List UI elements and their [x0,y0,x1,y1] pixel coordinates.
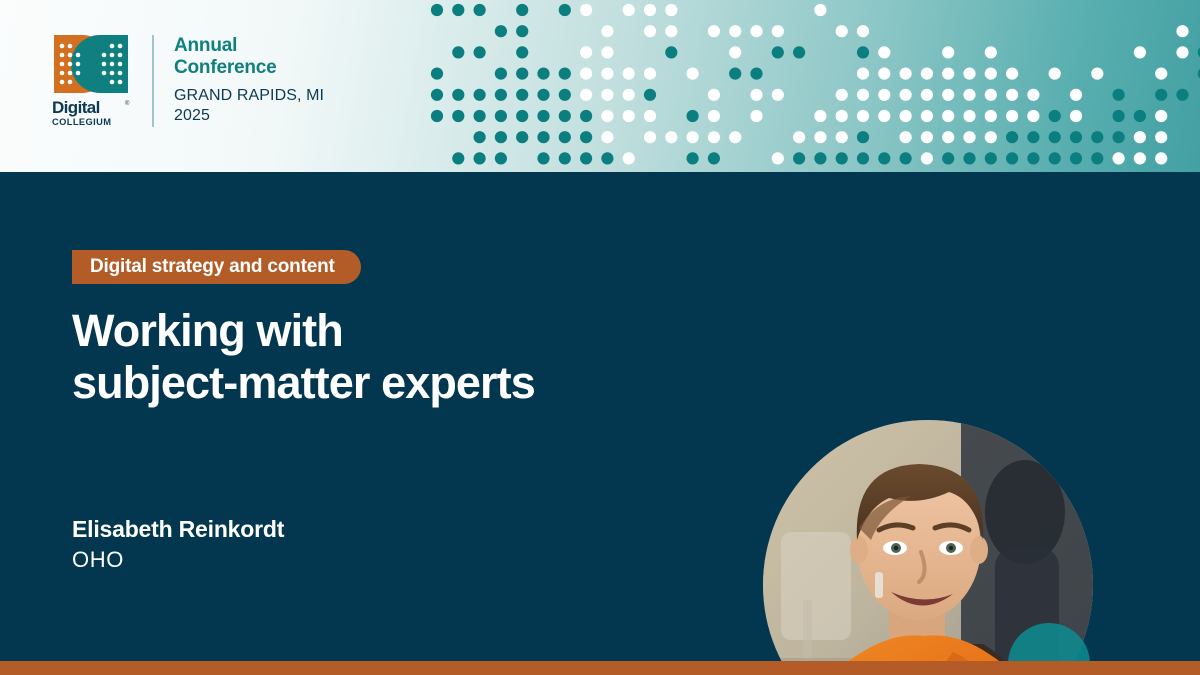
session-title-line2: subject-matter experts [72,357,712,409]
slide-body: Digital strategy and content Working wit… [0,172,1200,661]
logo-trademark-icon: ® [125,100,130,107]
event-name-line1: Annual [174,35,324,57]
slide-header: Digital ® COLLEGIUM Annual Conference GR… [0,0,1200,172]
logo-brand-name: Digital [52,98,100,117]
conference-slide: Digital ® COLLEGIUM Annual Conference GR… [0,0,1200,675]
topic-badge: Digital strategy and content [72,250,361,284]
session-title: Working with subject-matter experts [72,305,712,409]
session-title-line1: Working with [72,305,712,357]
digital-collegium-mark-icon [52,33,130,95]
speaker-portrait [763,420,1093,675]
event-name-line2: Conference [174,57,324,79]
speaker-organization: OHO [72,547,284,573]
event-identity: Annual Conference GRAND RAPIDS, MI 2025 [174,33,324,125]
speaker-name: Elisabeth Reinkordt [72,516,284,543]
speaker-block: Elisabeth Reinkordt OHO [72,516,284,573]
event-location: GRAND RAPIDS, MI [174,86,324,106]
logo-divider [152,35,154,127]
logo-lockup: Digital ® COLLEGIUM Annual Conference GR… [52,33,324,128]
footer-accent-bar [0,661,1200,675]
logo-wordmark: Digital ® COLLEGIUM [52,98,132,128]
logo-mark-wrap: Digital ® COLLEGIUM [52,33,132,128]
logo-brand-sub: COLLEGIUM [52,117,111,127]
event-year: 2025 [174,106,324,126]
